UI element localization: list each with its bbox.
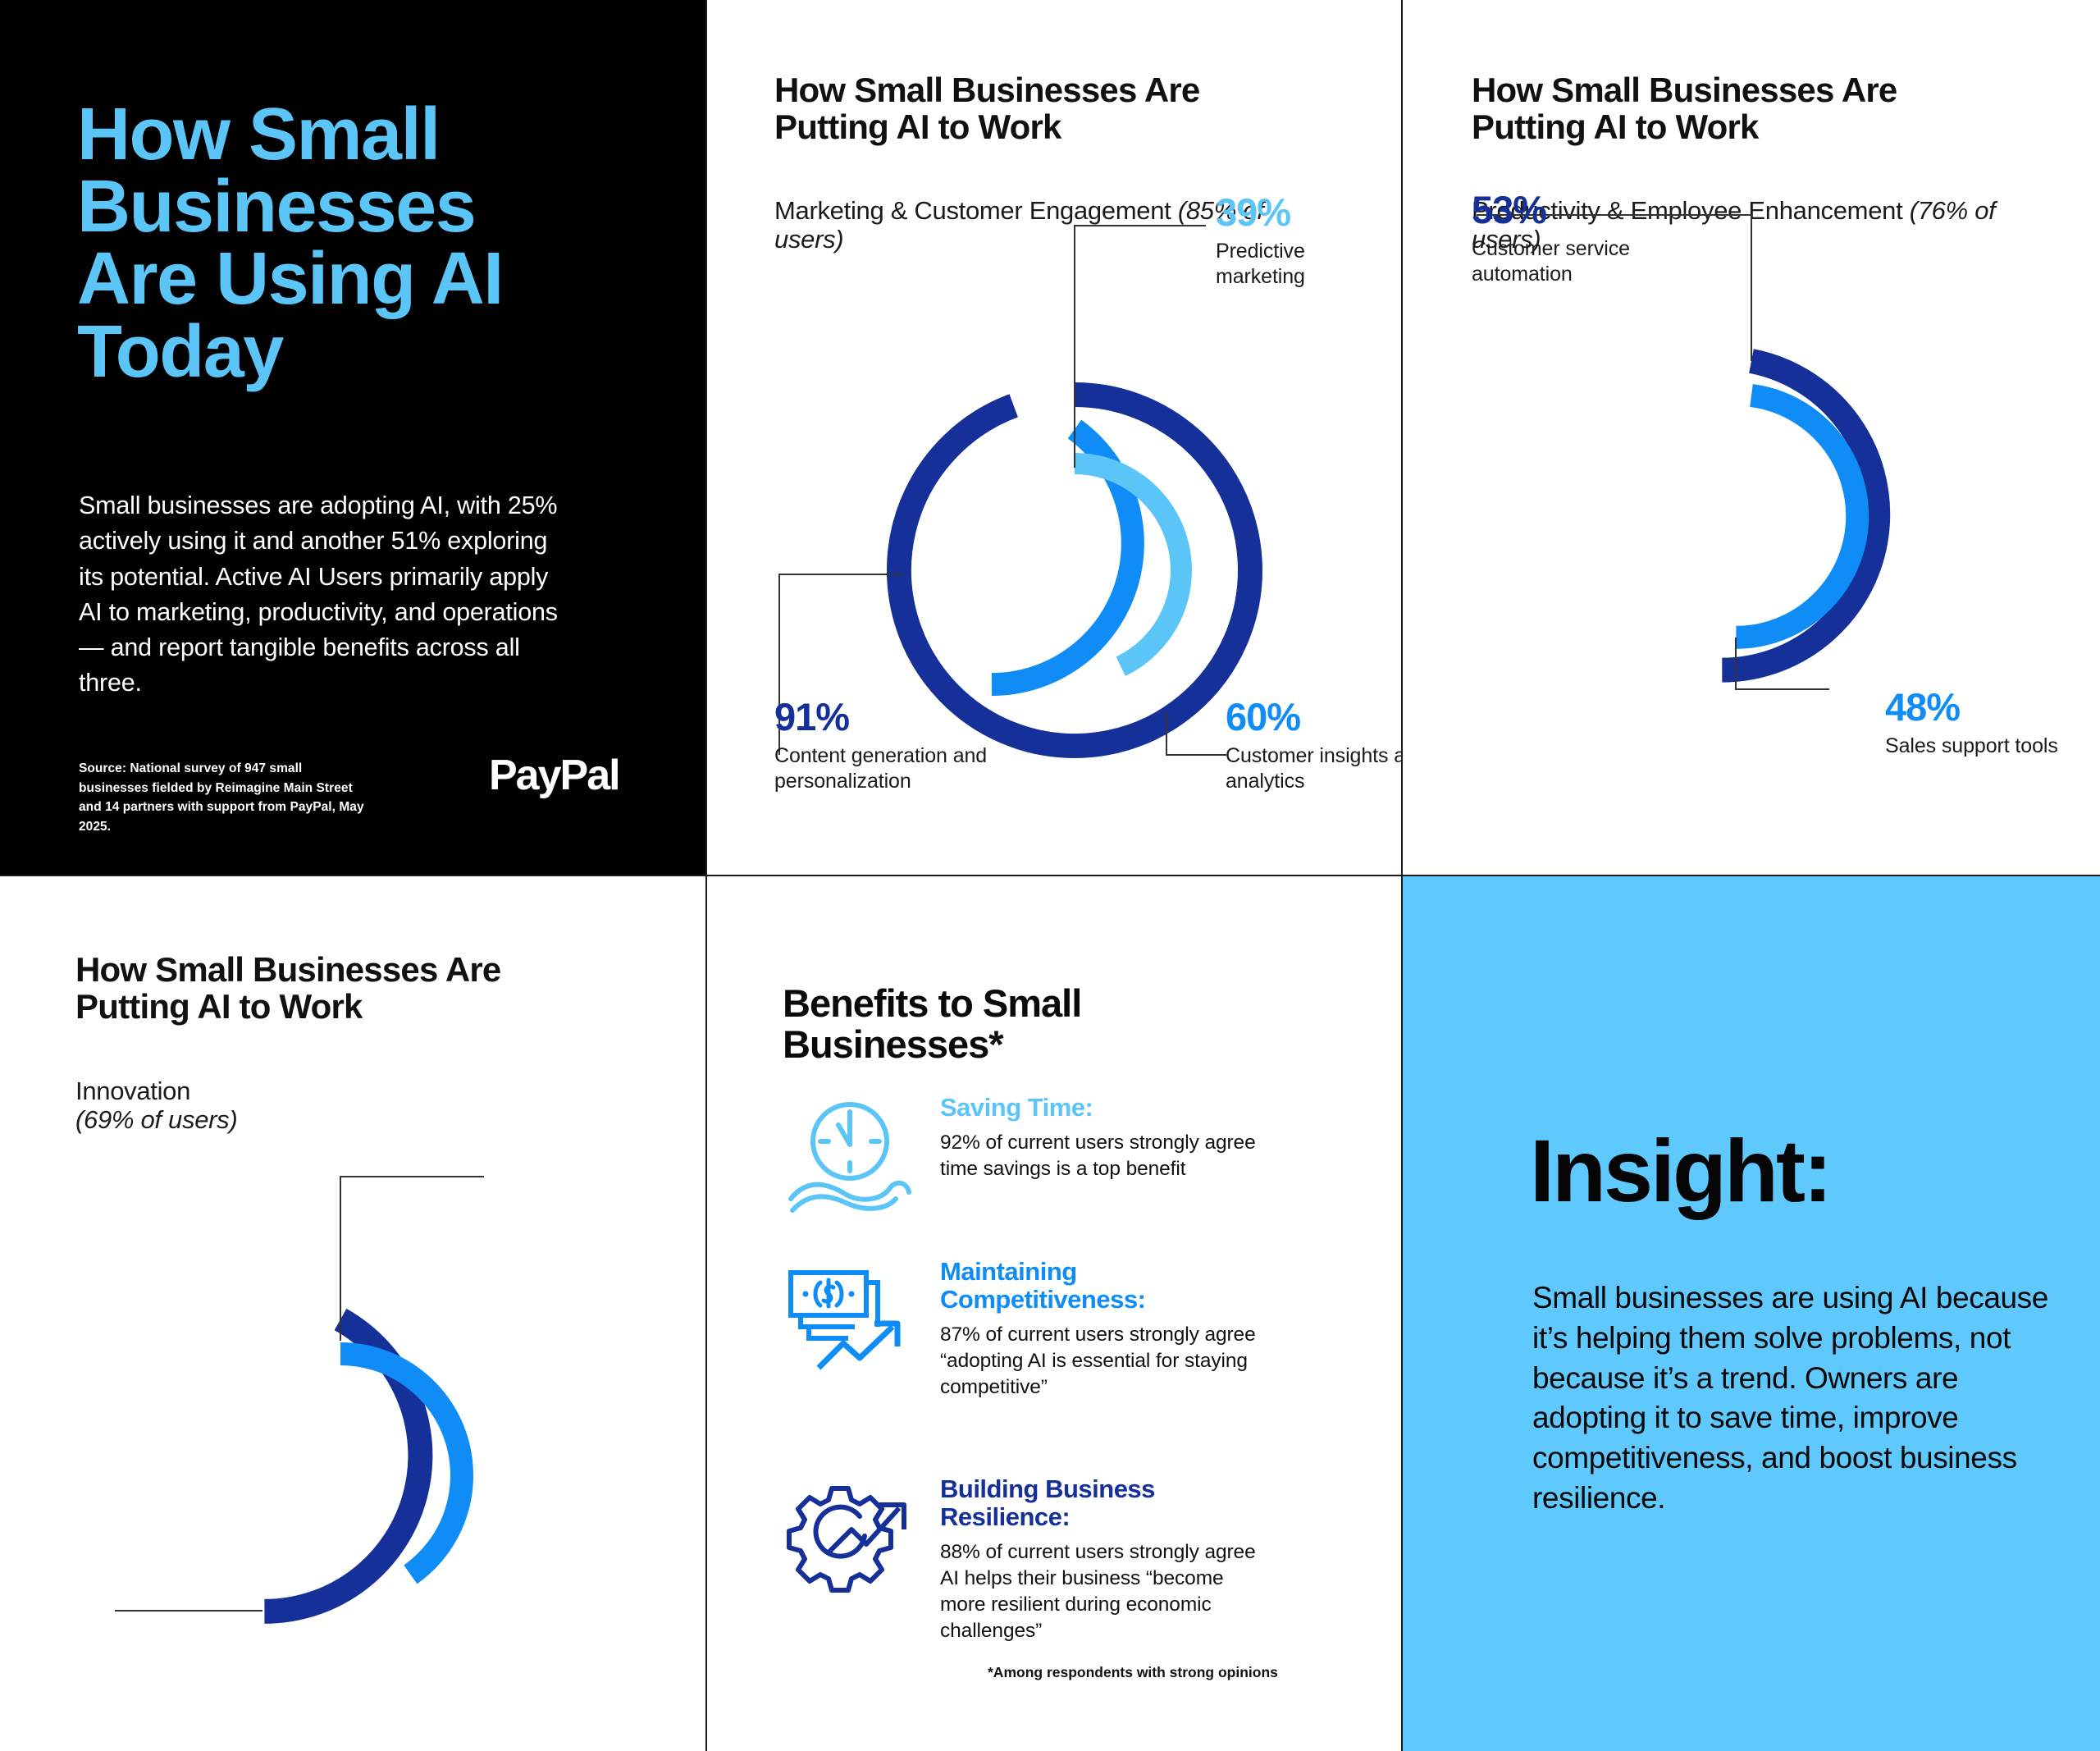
label-value: 60% xyxy=(1226,697,1401,736)
label-sales-support: 48% Sales support tools xyxy=(1885,688,2082,759)
hero-source-note: Source: National survey of 947 small bus… xyxy=(79,759,374,836)
label-predictive-marketing: 39% Predictive marketing xyxy=(1216,193,1392,289)
label-content-generation: 91% Content generation and personalizati… xyxy=(774,697,1029,793)
money-growth-icon xyxy=(784,1258,915,1381)
panel-marketing: How Small Businesses Are Putting AI to W… xyxy=(705,0,1401,875)
leader-line-quality-control xyxy=(340,1177,484,1341)
subtitle-main: Innovation xyxy=(75,1077,190,1105)
label-caption: Predictive marketing xyxy=(1216,239,1392,289)
panel-benefits: Benefits to Small Businesses* Saving Tim… xyxy=(705,875,1401,1751)
benefit-heading: Maintaining Competitiveness: xyxy=(940,1258,1268,1314)
gear-growth-icon xyxy=(784,1475,915,1598)
benefit-body: 88% of current users strongly agree AI h… xyxy=(940,1539,1268,1644)
benefits-footnote: *Among respondents with strong opinions xyxy=(988,1664,1278,1681)
page-title: How Small Businesses Are Putting AI to W… xyxy=(1472,72,1997,145)
page-title: How Small Businesses Are Putting AI to W… xyxy=(774,72,1299,145)
insight-body: Small businesses are using AI because it… xyxy=(1532,1278,2049,1519)
infographic-board: How Small Businesses Are Using AI Today … xyxy=(0,0,2100,1751)
hero-title: How Small Businesses Are Using AI Today xyxy=(77,98,602,388)
subtitle-italic: (69% of users) xyxy=(75,1105,237,1134)
benefit-item-competitiveness: Maintaining Competitiveness: 87% of curr… xyxy=(784,1258,1268,1401)
benefit-heading: Saving Time: xyxy=(940,1094,1268,1122)
label-caption: Customer service automation xyxy=(1472,236,1685,286)
insight-title: Insight: xyxy=(1530,1127,1830,1215)
panel-insight: Insight: Small businesses are using AI b… xyxy=(1401,875,2100,1751)
page-title: How Small Businesses Are Putting AI to W… xyxy=(75,952,600,1025)
label-value: 91% xyxy=(774,697,1029,736)
hero-body-text: Small businesses are adopting AI, with 2… xyxy=(79,488,571,702)
label-caption: Customer insights and analytics xyxy=(1226,743,1401,793)
label-value: 39% xyxy=(1216,193,1392,231)
paypal-logo: PayPal xyxy=(489,751,619,800)
benefit-item-saving-time: Saving Time: 92% of current users strong… xyxy=(784,1094,1268,1217)
label-customer-insights: 60% Customer insights and analytics xyxy=(1226,697,1401,793)
benefit-body: 92% of current users strongly agree time… xyxy=(940,1130,1268,1182)
label-value: 53% xyxy=(1472,190,1685,229)
panel-productivity: How Small Businesses Are Putting AI to W… xyxy=(1401,0,2100,875)
label-value: 48% xyxy=(1885,688,2082,726)
benefit-text: Maintaining Competitiveness: 87% of curr… xyxy=(940,1258,1268,1401)
panel-innovation: How Small Businesses Are Putting AI to W… xyxy=(0,875,705,1751)
radial-chart-innovation xyxy=(98,1147,673,1721)
benefit-item-resilience: Building Business Resilience: 88% of cur… xyxy=(784,1475,1268,1644)
benefit-heading: Building Business Resilience: xyxy=(940,1475,1268,1531)
label-caption: Content generation and personalization xyxy=(774,743,1029,793)
panel-subtitle: Innovation (69% of users) xyxy=(75,1077,535,1134)
label-customer-service: 53% Customer service automation xyxy=(1472,190,1685,286)
benefit-text: Saving Time: 92% of current users strong… xyxy=(940,1094,1268,1182)
panel-hero: How Small Businesses Are Using AI Today … xyxy=(0,0,705,875)
benefit-body: 87% of current users strongly agree “ado… xyxy=(940,1322,1268,1401)
clock-in-hand-icon xyxy=(784,1094,915,1217)
page-title: Benefits to Small Businesses* xyxy=(783,983,1242,1065)
benefit-text: Building Business Resilience: 88% of cur… xyxy=(940,1475,1268,1644)
label-caption: Sales support tools xyxy=(1885,734,2082,759)
